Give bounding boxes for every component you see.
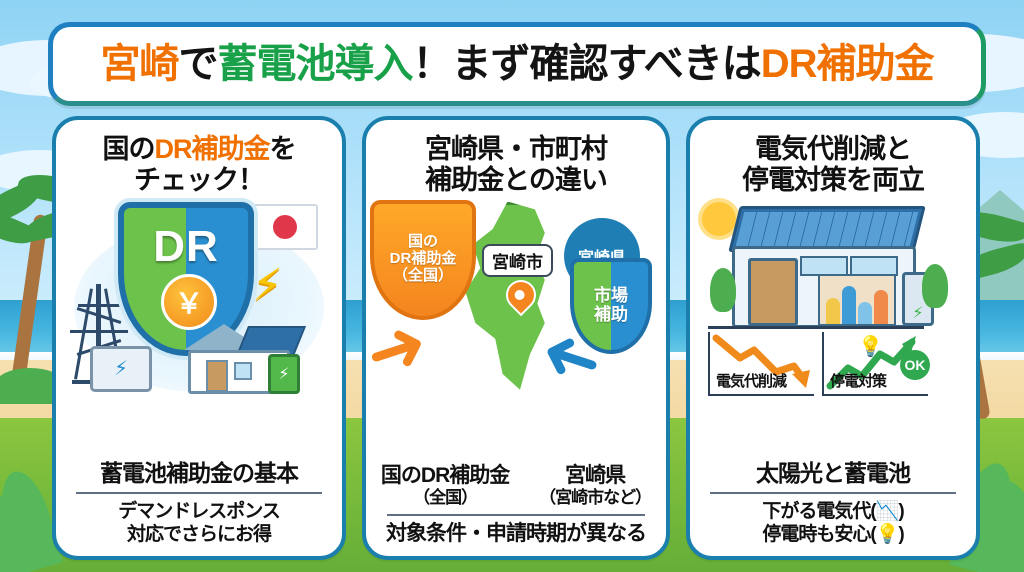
family-child-1 (826, 298, 840, 324)
title-banner: 宮崎で蓄電池導入！まず確認すべきはDR補助金 (48, 22, 986, 106)
title-seg-4: DR補助金 (761, 42, 934, 86)
card1-title-line1: 国のDR補助金を (103, 134, 296, 165)
local-shield-line2: 補助 (594, 305, 628, 324)
card2-col1-sub: （全国） (381, 488, 509, 509)
chart-blackout-label: 停電対策 (830, 370, 886, 391)
infographic-root: 宮崎で蓄電池導入！まず確認すべきはDR補助金 国のDR補助金を チェック！ (0, 0, 1024, 572)
title-seg-3: ！まず確認すべきは (413, 42, 761, 86)
title-text: 宮崎で蓄電池導入！まず確認すべきはDR補助金 (101, 44, 934, 84)
card1-foot-head: 蓄電池補助金の基本 (56, 460, 342, 486)
local-shield-text: 市場 補助 (594, 287, 628, 324)
card-national-dr[interactable]: 国のDR補助金を チェック！ DR ￥ (52, 116, 346, 560)
card3-illustration: ⚡ 電気代削減 💡 停電対策 OK (690, 196, 976, 461)
card1-title-line2: チェック！ (103, 165, 296, 196)
home-battery-icon: ⚡ (268, 354, 300, 394)
national-shield-line2: DR補助金 (390, 250, 457, 267)
card2-col2-head: 宮崎県 (539, 464, 651, 488)
house-solar-family-icon: ⚡ (726, 206, 916, 324)
card3-foot-sub-1: 下がる電気代(📉) (690, 500, 976, 523)
card1-footer: 蓄電池補助金の基本 デマンドレスポンス 対応でさらにお得 (56, 460, 342, 556)
card-local-subsidy[interactable]: 宮崎県・市町村 補助金との違い 宮崎市 ➜ ➜ 国の DR補助金 （全国） 宮崎… (362, 116, 670, 560)
yen-coin-icon: ￥ (161, 274, 217, 330)
card2-footer: 国のDR補助金 （全国） 宮崎県 （宮崎市など） 対象条件・申請時期が異なる (366, 464, 666, 556)
local-subsidy-shield: 市場 補助 (570, 258, 652, 354)
card3-foot-sub-2: 停電時も安心(💡) (690, 523, 976, 546)
card2-foot-columns: 国のDR補助金 （全国） 宮崎県 （宮崎市など） (366, 464, 666, 509)
flag-sun-disc (273, 215, 297, 239)
card2-col1-head: 国のDR補助金 (381, 464, 509, 488)
national-shield-line3: （全国） (393, 267, 453, 284)
card2-title-line2: 補助金との違い (425, 165, 607, 196)
miyazaki-city-tag: 宮崎市 (482, 244, 553, 277)
house-door (206, 360, 228, 392)
house3-roof (728, 206, 925, 252)
national-shield-line1: 国の (408, 233, 438, 250)
house-window (234, 362, 252, 380)
lightning-bolt-icon: ⚡ (252, 260, 283, 311)
house3-window-1 (800, 256, 848, 276)
ok-badge: OK (900, 350, 930, 380)
card3-title-line2: 停電対策を両立 (742, 165, 924, 196)
family-father (842, 286, 856, 324)
card3-foot-head: 太陽光と蓄電池 (690, 460, 976, 486)
family-group-icon (818, 274, 896, 326)
house3-door (748, 258, 798, 326)
national-shield-text: 国の DR補助金 （全国） (390, 234, 457, 284)
card2-foot-note: 対象条件・申請時期が異なる (366, 522, 666, 546)
card2-col2-sub: （宮崎市など） (539, 488, 651, 509)
chart-blackout: 💡 停電対策 OK (822, 332, 928, 396)
local-shield-line1: 市場 (594, 286, 628, 305)
bulb-icon: 💡 (858, 334, 883, 359)
tree-right (922, 264, 948, 308)
title-seg-1: で (179, 42, 218, 86)
card2-title: 宮崎県・市町村 補助金との違い (425, 134, 607, 196)
card1-divider (76, 492, 322, 494)
card1-title-part-kuni: 国の (103, 134, 155, 164)
house3-solar-grid (736, 212, 918, 246)
card3-footer: 太陽光と蓄電池 下がる電気代(📉) 停電時も安心(💡) (690, 460, 976, 556)
tree-left (710, 268, 736, 312)
card1-title-part-wo: を (270, 134, 296, 164)
ground-line (708, 326, 924, 329)
card1-illustration: DR ￥ ⚡ ⚡ ⚡ (56, 196, 342, 461)
dr-shield-label: DR (124, 222, 248, 272)
national-subsidy-shield: 国の DR補助金 （全国） (370, 200, 476, 320)
battery-icon: ⚡ (90, 346, 152, 392)
card2-title-line1: 宮崎県・市町村 (425, 134, 607, 165)
card2-divider (387, 514, 645, 516)
card3-title: 電気代削減と 停電対策を両立 (742, 134, 924, 196)
card2-foot-col-national: 国のDR補助金 （全国） (381, 464, 509, 509)
card1-title: 国のDR補助金を チェック！ (103, 134, 296, 196)
house-with-solar-icon: ⚡ (184, 324, 302, 388)
card2-foot-col-local: 宮崎県 （宮崎市など） (539, 464, 651, 509)
title-seg-0: 宮崎 (101, 42, 179, 86)
card3-title-line1: 電気代削減と (742, 134, 924, 165)
card1-foot-sub-1: デマンドレスポンス (56, 500, 342, 523)
card2-illustration: 宮崎市 ➜ ➜ 国の DR補助金 （全国） 宮崎県 市場 補助 (366, 196, 666, 464)
house3-window-2 (850, 256, 898, 276)
chart-savings: 電気代削減 (708, 332, 814, 396)
card3-divider (710, 492, 956, 494)
japan-flag-icon (252, 204, 318, 250)
chart-savings-label: 電気代削減 (716, 370, 786, 391)
family-child-2 (858, 302, 872, 324)
card1-foot-sub-2: 対応でさらにお得 (56, 523, 342, 546)
family-mother (874, 290, 888, 324)
title-seg-2: 蓄電池導入 (218, 42, 413, 86)
card1-title-part-dr: DR補助金 (155, 134, 270, 164)
card-savings-blackout[interactable]: 電気代削減と 停電対策を両立 ⚡ (686, 116, 980, 560)
